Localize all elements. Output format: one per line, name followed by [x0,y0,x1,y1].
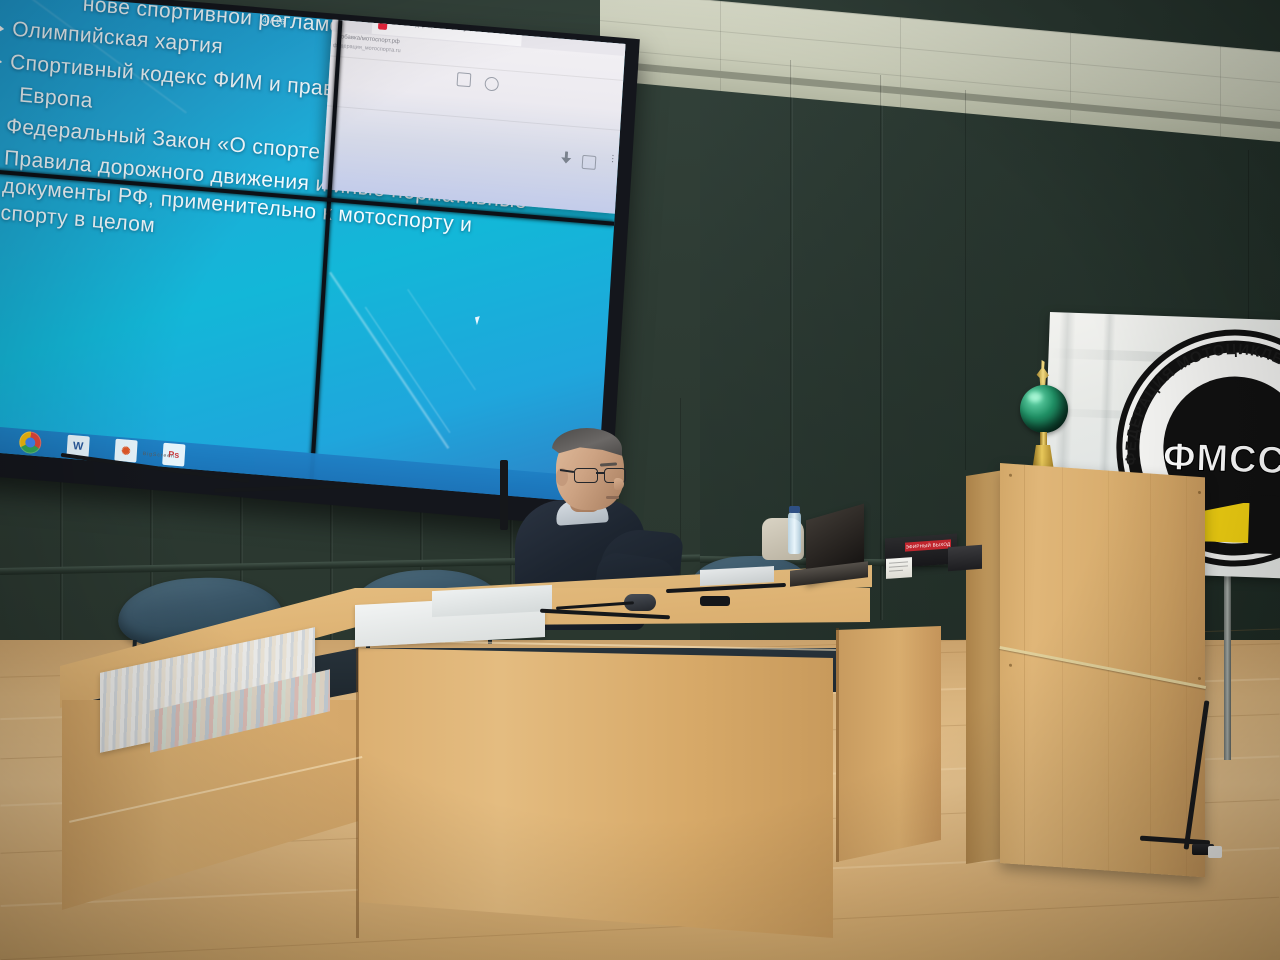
eyeglasses-bridge [596,472,604,474]
av-equipment-secondary[interactable] [948,545,982,571]
fire-app-icon[interactable]: ✺ [114,439,137,463]
tv-cable [500,460,508,530]
bullet-triangle-icon [0,23,5,36]
chrome-icon[interactable] [19,431,42,455]
desk-front-right [836,626,941,862]
power-adapter [1208,846,1222,858]
bottle-cap [789,506,800,513]
podium-side-panel [966,470,1004,864]
desk-panel-seam [356,646,359,938]
water-bottle[interactable] [788,512,801,554]
download-icon[interactable] [560,151,573,164]
conference-room-photo: нове спортивной регламентации лежат: Оли… [0,0,1280,960]
pdf-page-counter[interactable]: 4 / 16 [262,16,286,27]
video-wall-screen[interactable]: нове спортивной регламентации лежат: Оли… [0,0,625,503]
bookmark-icon[interactable] [457,72,472,87]
bullet-triangle-icon [0,55,3,68]
print-icon[interactable] [582,155,597,170]
mouse-cursor-icon [475,316,482,325]
banner-stand-pole [1224,560,1231,760]
trophy-globe [1020,385,1068,433]
presenter-mouth [606,496,619,499]
favicon-icon [378,20,388,30]
desk-cable [700,596,730,606]
video-wall[interactable]: нове спортивной регламентации лежат: Оли… [0,0,640,528]
desk-front-center [358,640,833,940]
desk-panel-seam [836,628,839,862]
svg-text:ФЕДЕРАЦИЯ МОТОЦИКЛЕТ: ФЕДЕРАЦИЯ МОТОЦИКЛЕТ [1122,337,1280,472]
wooden-podium[interactable] [1000,463,1205,877]
trophy-highlight [1028,392,1042,402]
eyeglasses-icon [574,468,598,483]
slide-bullet-label: Европа [18,81,93,114]
name-card [886,557,912,579]
browser-menu-icon[interactable]: ⋮ [608,153,619,165]
history-icon[interactable] [484,76,499,91]
browser-window[interactable]: Сайт Федерации мотоспорта добавка/мотосп… [322,9,626,214]
